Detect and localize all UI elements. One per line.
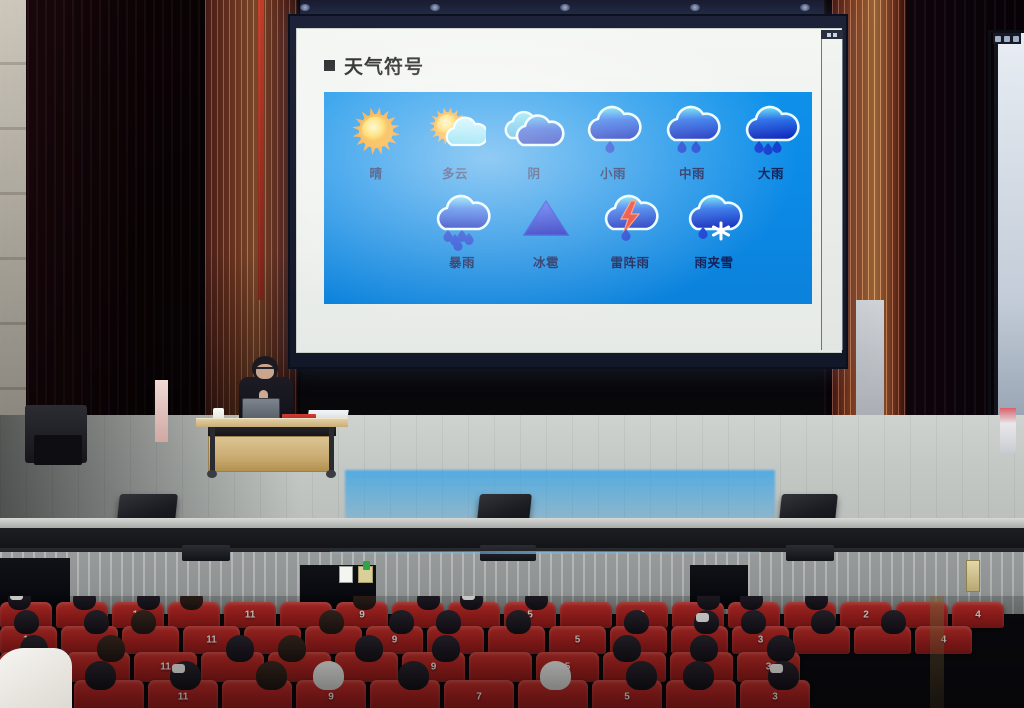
student-head [226, 635, 254, 662]
stage-doorway-frame [988, 30, 1024, 420]
audience-seat[interactable] [335, 652, 398, 682]
hail-triangle-icon [515, 189, 577, 251]
weather-symbol-label: 中雨 [679, 163, 705, 182]
seat-number: 4 [952, 610, 1004, 621]
weather-symbol-cloud-heavy-rain: 大雨 [741, 100, 801, 182]
desk-top-surface [196, 418, 348, 427]
student-white-coat [0, 648, 72, 708]
seat-row: 1311953 [0, 652, 1024, 682]
student-head [436, 610, 461, 634]
student-head [805, 596, 828, 610]
weather-symbol-thunderstorm: 雷阵雨 [600, 189, 660, 271]
audience-seat[interactable] [488, 626, 545, 654]
wall-handrail [330, 551, 760, 554]
student-head [355, 635, 383, 662]
projection-side-panel [821, 30, 843, 350]
slide-title: 天气符号 [324, 52, 803, 79]
weather-symbol-overcast-clouds: 阴 [504, 100, 564, 182]
slide-title-text: 天气符号 [344, 52, 424, 79]
audience-seat[interactable]: 4 [952, 602, 1004, 628]
audience-seat[interactable] [469, 652, 532, 682]
audience-seat[interactable]: 5 [592, 680, 662, 708]
stage-right-stand [1000, 408, 1016, 453]
audience-seat[interactable] [222, 680, 292, 708]
student-head [626, 661, 657, 690]
seat-row: 13119534 [0, 626, 1024, 654]
student-head [690, 635, 718, 662]
student-head [881, 610, 906, 634]
wall-notice-sign [339, 566, 353, 583]
seat-number: 11 [148, 692, 218, 703]
weather-symbol-label: 雷阵雨 [610, 252, 649, 271]
desk-front-panel [208, 436, 334, 472]
weather-symbol-cloud-moderate-rain: 中雨 [662, 100, 722, 182]
audience-seat[interactable]: 7 [444, 680, 514, 708]
student-head [697, 596, 720, 610]
audience-seat[interactable]: 3 [740, 680, 810, 708]
student-head [683, 661, 714, 690]
seat-number: 11 [224, 610, 276, 621]
audience-seating: 151311953124 13119534 1311953 3119753 [0, 596, 1024, 708]
wall-tile-column-left [0, 0, 26, 470]
glasses-icon [256, 367, 274, 371]
student-head [506, 610, 531, 634]
hair-clip-icon [462, 596, 475, 600]
weather-symbol-label: 阴 [527, 163, 540, 182]
weather-symbol-panel: 晴 多云 阴 小雨 中雨 [324, 92, 812, 304]
truss-light-icon [690, 4, 700, 11]
audience-seat[interactable]: 11 [148, 680, 218, 708]
student-head [741, 610, 766, 634]
student-head [131, 610, 156, 634]
audience-seat[interactable] [168, 602, 220, 628]
sun-icon [345, 100, 407, 162]
thunderstorm-icon [599, 189, 661, 251]
student-head [180, 596, 203, 610]
weather-symbol-label: 多云 [442, 163, 468, 182]
audience-seat[interactable]: 11 [224, 602, 276, 628]
cloud-rainstorm-icon [431, 189, 493, 251]
hair-clip-icon [10, 596, 23, 600]
stage-post [155, 380, 168, 442]
audience-seat[interactable] [201, 652, 264, 682]
seat-number: 5 [592, 692, 662, 703]
desk-leg [329, 427, 334, 473]
student-head [389, 610, 414, 634]
seat-number: 5 [549, 635, 606, 646]
truss-light-icon [800, 4, 810, 11]
wall-plaque [966, 560, 980, 592]
wall-speaker [182, 545, 230, 561]
student-head [740, 596, 763, 610]
weather-symbol-sun-behind-cloud: 多云 [425, 100, 485, 182]
weather-symbol-cloud-rainstorm: 暴雨 [432, 189, 492, 271]
weather-row-1: 晴 多云 阴 小雨 中雨 [334, 100, 802, 182]
audience-seat[interactable]: 9 [296, 680, 366, 708]
student-head [85, 661, 116, 690]
exit-marker-icon [363, 561, 370, 570]
presentation-slide: 天气符号 晴 多云 阴 [296, 28, 821, 353]
seat-number: 7 [444, 692, 514, 703]
student-head [353, 596, 376, 610]
student-head [84, 610, 109, 634]
seat-number: 9 [336, 610, 388, 621]
truss-light-icon [300, 4, 310, 11]
audience-seat[interactable] [793, 626, 850, 654]
weather-symbol-cloud-light-rain: 小雨 [583, 100, 643, 182]
audience-seat[interactable] [560, 602, 612, 628]
student-head [624, 610, 649, 634]
student-head [97, 635, 125, 662]
audience-seat[interactable] [74, 680, 144, 708]
student-head [137, 596, 160, 610]
student-head [613, 635, 641, 662]
auditorium-scene: 天气符号 晴 多云 阴 [0, 0, 1024, 708]
weather-symbol-label: 小雨 [600, 163, 626, 182]
audience-seat[interactable] [370, 680, 440, 708]
laptop-screen[interactable] [242, 398, 280, 420]
weather-symbol-label: 晴 [369, 163, 382, 182]
sun-behind-cloud-icon [424, 100, 486, 162]
aisle-divider [930, 596, 944, 708]
student-head [767, 635, 795, 662]
student-head [73, 596, 96, 610]
audience-seat[interactable]: 5 [549, 626, 606, 654]
student-head [417, 596, 440, 610]
student-head [313, 661, 344, 690]
truss-light-icon [430, 4, 440, 11]
weather-symbol-label: 大雨 [758, 163, 784, 182]
wall-speaker [786, 545, 834, 561]
desk-shelf [208, 427, 336, 436]
seat-number: 3 [740, 692, 810, 703]
audience-seat[interactable] [854, 626, 911, 654]
truss-light-icon [560, 4, 570, 11]
desk-caster-wheel [326, 470, 336, 478]
weather-row-2: 暴雨 冰雹 雷阵雨 雨夹雪 [334, 189, 802, 271]
doorway-fittings-icon [993, 33, 1021, 44]
overcast-clouds-icon [503, 100, 565, 162]
student-head [525, 596, 548, 610]
weather-symbol-label: 暴雨 [449, 252, 475, 271]
presenter-desk-area [196, 352, 348, 477]
cloud-heavy-rain-icon [740, 100, 802, 162]
student-head [14, 610, 39, 634]
weather-symbol-sleet-rain-snow: 雨夹雪 [684, 189, 744, 271]
audience-seat[interactable] [518, 680, 588, 708]
hair-clip-icon [172, 664, 185, 673]
desk-caster-wheel [207, 470, 217, 478]
weather-symbol-label: 冰雹 [533, 252, 559, 271]
backstage-equipment-case [34, 435, 82, 465]
cloud-moderate-rain-icon [661, 100, 723, 162]
audience-seat[interactable] [122, 626, 179, 654]
hair-clip-icon [770, 664, 783, 673]
weather-symbol-label: 雨夹雪 [694, 252, 733, 271]
sleet-rain-snow-icon [683, 189, 745, 251]
bullet-square-icon [324, 60, 335, 71]
student-head [811, 610, 836, 634]
audience-seat[interactable] [305, 626, 362, 654]
seat-number: 9 [296, 692, 366, 703]
weather-symbol-hail-triangle: 冰雹 [516, 189, 576, 271]
curtain-red-stripe [258, 0, 264, 300]
student-head [319, 610, 344, 634]
student-head [256, 661, 287, 690]
window-controls-icon[interactable] [821, 30, 843, 39]
desk-leg [210, 427, 215, 473]
student-head [398, 661, 429, 690]
student-head [278, 635, 306, 662]
seat-row: 3119753 [0, 680, 1024, 708]
audience-seat[interactable] [666, 680, 736, 708]
student-head [540, 661, 571, 690]
weather-symbol-sun: 晴 [346, 100, 406, 182]
student-head [432, 635, 460, 662]
right-wall-panel [856, 300, 884, 420]
cloud-light-rain-icon [582, 100, 644, 162]
hair-clip-icon [696, 613, 709, 622]
